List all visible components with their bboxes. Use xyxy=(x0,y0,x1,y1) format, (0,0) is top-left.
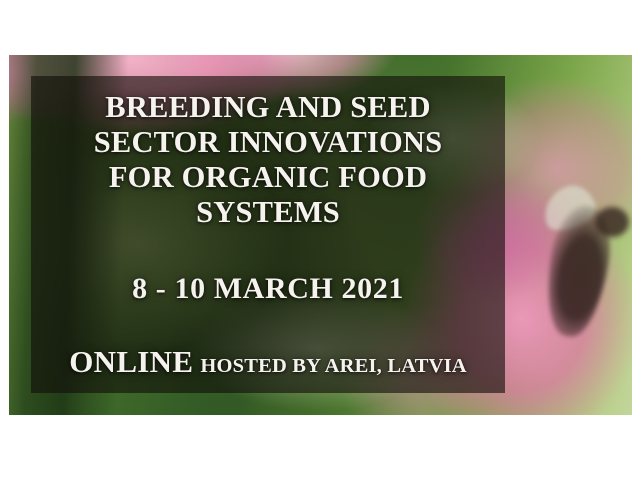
title-line-4: SYSTEMS xyxy=(55,195,481,230)
poster: BREEDING AND SEED SECTOR INNOVATIONS FOR… xyxy=(0,0,639,480)
event-date: 8 - 10 MARCH 2021 xyxy=(49,230,487,306)
title-line-2: SECTOR INNOVATIONS xyxy=(55,125,481,160)
poster-text-block: BREEDING AND SEED SECTOR INNOVATIONS FOR… xyxy=(31,76,505,393)
event-venue: ONLINEHOSTED BY AREI, LATVIA xyxy=(49,306,487,380)
venue-mode: ONLINE xyxy=(69,344,193,379)
venue-host: HOSTED BY AREI, LATVIA xyxy=(193,355,466,377)
title-line-3: FOR ORGANIC FOOD xyxy=(55,160,481,195)
bumblebee-head xyxy=(595,207,629,237)
title-line-1: BREEDING AND SEED xyxy=(55,90,481,125)
poster-title: BREEDING AND SEED SECTOR INNOVATIONS FOR… xyxy=(49,90,487,230)
